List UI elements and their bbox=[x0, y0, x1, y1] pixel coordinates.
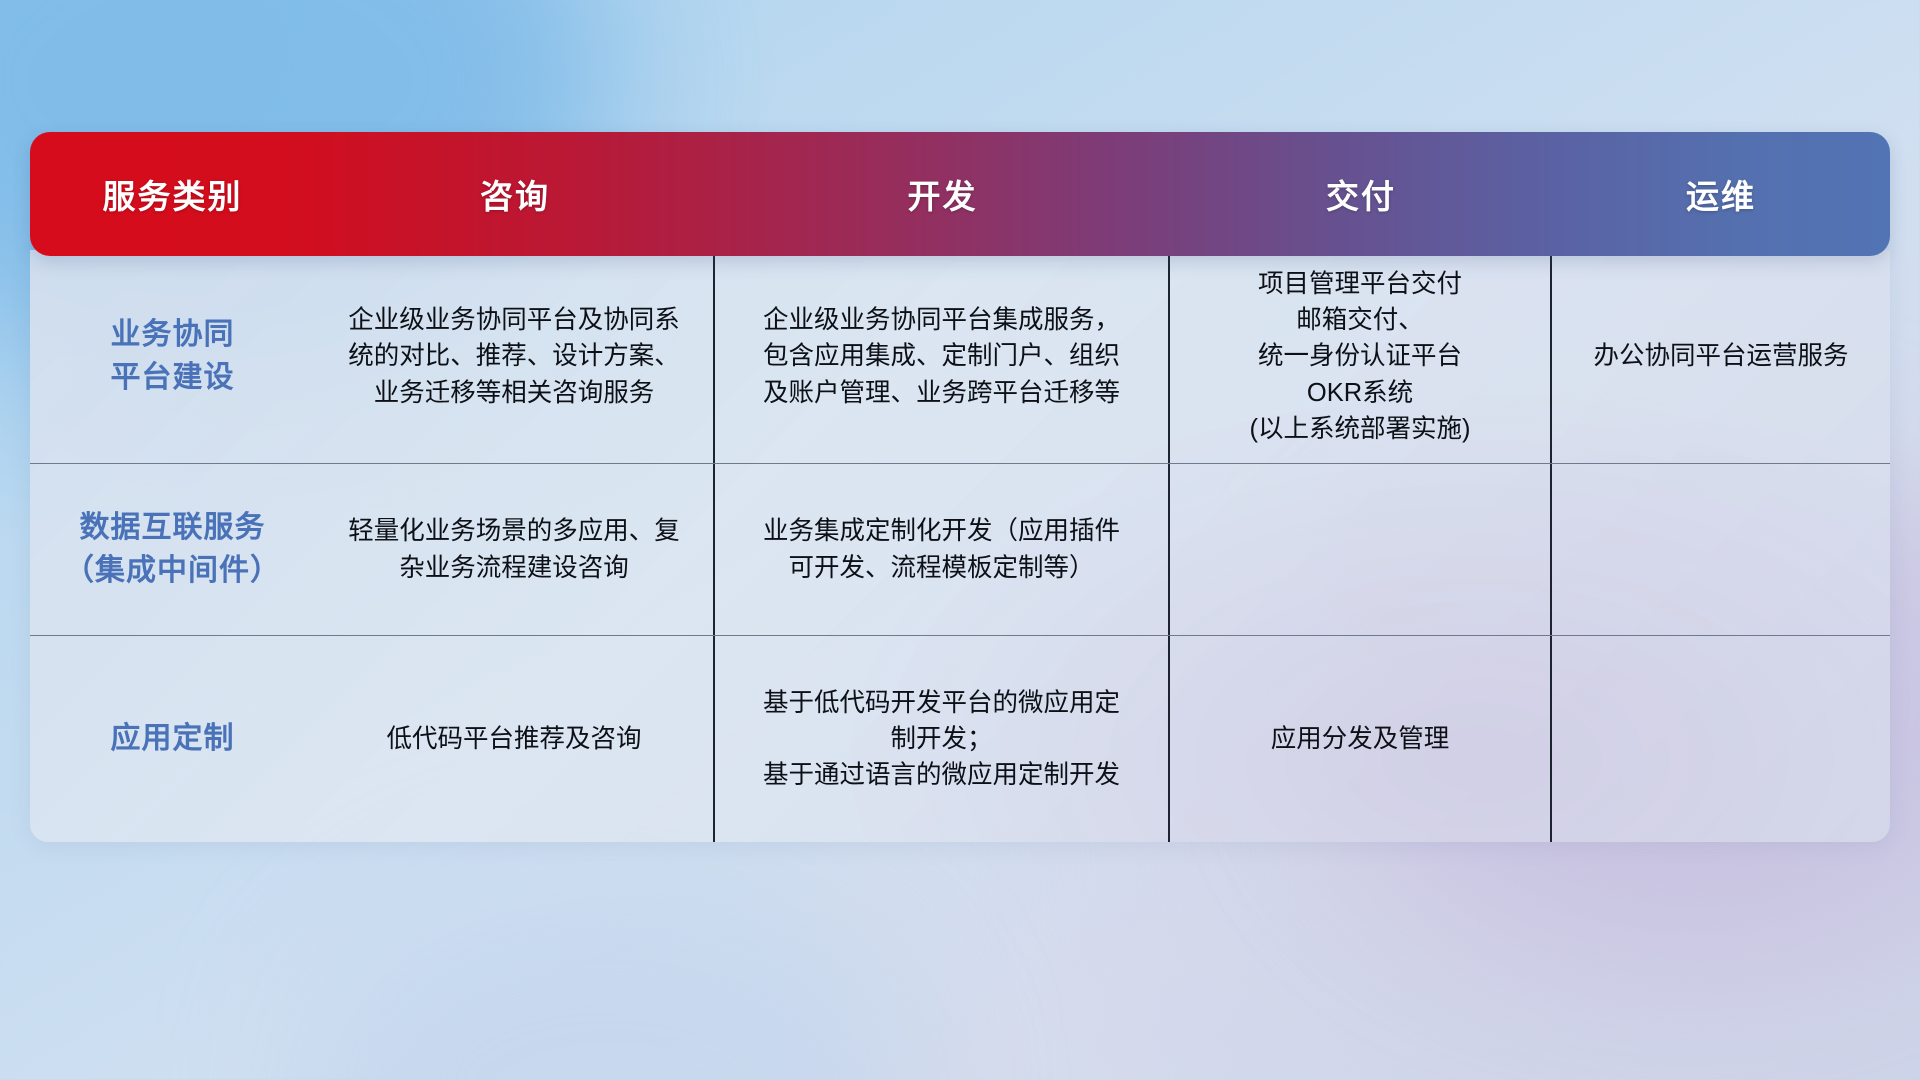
cell-delivery bbox=[1170, 464, 1552, 635]
cell-text: 基于低代码开发平台的微应用定 制开发； 基于通过语言的微应用定制开发 bbox=[763, 685, 1120, 794]
cell-delivery: 项目管理平台交付 邮箱交付、 统一身份认证平台 OKR系统 (以上系统部署实施) bbox=[1170, 250, 1552, 463]
cell-consulting: 企业级业务协同平台及协同系 统的对比、推荐、设计方案、 业务迁移等相关咨询服务 bbox=[315, 250, 715, 463]
cell-category: 数据互联服务 （集成中间件） bbox=[30, 464, 315, 635]
cell-text: 企业级业务协同平台及协同系 统的对比、推荐、设计方案、 业务迁移等相关咨询服务 bbox=[348, 302, 680, 411]
cell-text: 企业级业务协同平台集成服务， 包含应用集成、定制门户、组织 及账户管理、业务跨平… bbox=[763, 302, 1120, 411]
cell-category: 应用定制 bbox=[30, 636, 315, 842]
cell-text: 业务集成定制化开发（应用插件 可开发、流程模板定制等） bbox=[763, 513, 1120, 585]
table-row: 数据互联服务 （集成中间件） 轻量化业务场景的多应用、复 杂业务流程建设咨询 业… bbox=[30, 463, 1890, 635]
cell-category: 业务协同 平台建设 bbox=[30, 250, 315, 463]
cell-text: 轻量化业务场景的多应用、复 杂业务流程建设咨询 bbox=[348, 513, 680, 585]
cell-development: 基于低代码开发平台的微应用定 制开发； 基于通过语言的微应用定制开发 bbox=[715, 636, 1170, 842]
background-blob-bottom bbox=[300, 880, 920, 1080]
column-header-category: 服务类别 bbox=[30, 170, 315, 218]
cell-operations: 办公协同平台运营服务 bbox=[1552, 250, 1890, 463]
cell-delivery: 应用分发及管理 bbox=[1170, 636, 1552, 842]
cell-text: 项目管理平台交付 邮箱交付、 统一身份认证平台 OKR系统 (以上系统部署实施) bbox=[1250, 266, 1471, 447]
column-header-operations: 运维 bbox=[1552, 170, 1890, 218]
category-label: 业务协同 平台建设 bbox=[111, 314, 235, 399]
category-label: 应用定制 bbox=[111, 718, 235, 761]
table-row: 业务协同 平台建设 企业级业务协同平台及协同系 统的对比、推荐、设计方案、 业务… bbox=[30, 250, 1890, 463]
cell-text: 办公协同平台运营服务 bbox=[1593, 338, 1848, 374]
category-label: 数据互联服务 （集成中间件） bbox=[64, 507, 281, 592]
table-row: 应用定制 低代码平台推荐及咨询 基于低代码开发平台的微应用定 制开发； 基于通过… bbox=[30, 635, 1890, 842]
service-matrix-table: 服务类别 咨询 开发 交付 运维 业务协同 平台建设 企业级业务协同平台及协同系… bbox=[30, 132, 1890, 842]
cell-development: 企业级业务协同平台集成服务， 包含应用集成、定制门户、组织 及账户管理、业务跨平… bbox=[715, 250, 1170, 463]
table-header-row: 服务类别 咨询 开发 交付 运维 bbox=[30, 132, 1890, 256]
cell-operations bbox=[1552, 464, 1890, 635]
cell-consulting: 轻量化业务场景的多应用、复 杂业务流程建设咨询 bbox=[315, 464, 715, 635]
cell-development: 业务集成定制化开发（应用插件 可开发、流程模板定制等） bbox=[715, 464, 1170, 635]
cell-text: 应用分发及管理 bbox=[1271, 721, 1450, 757]
table-body: 业务协同 平台建设 企业级业务协同平台及协同系 统的对比、推荐、设计方案、 业务… bbox=[30, 250, 1890, 842]
cell-operations bbox=[1552, 636, 1890, 842]
column-header-consulting: 咨询 bbox=[315, 170, 715, 218]
cell-consulting: 低代码平台推荐及咨询 bbox=[315, 636, 715, 842]
column-header-delivery: 交付 bbox=[1170, 170, 1552, 218]
column-header-development: 开发 bbox=[715, 170, 1170, 218]
cell-text: 低代码平台推荐及咨询 bbox=[386, 721, 641, 757]
